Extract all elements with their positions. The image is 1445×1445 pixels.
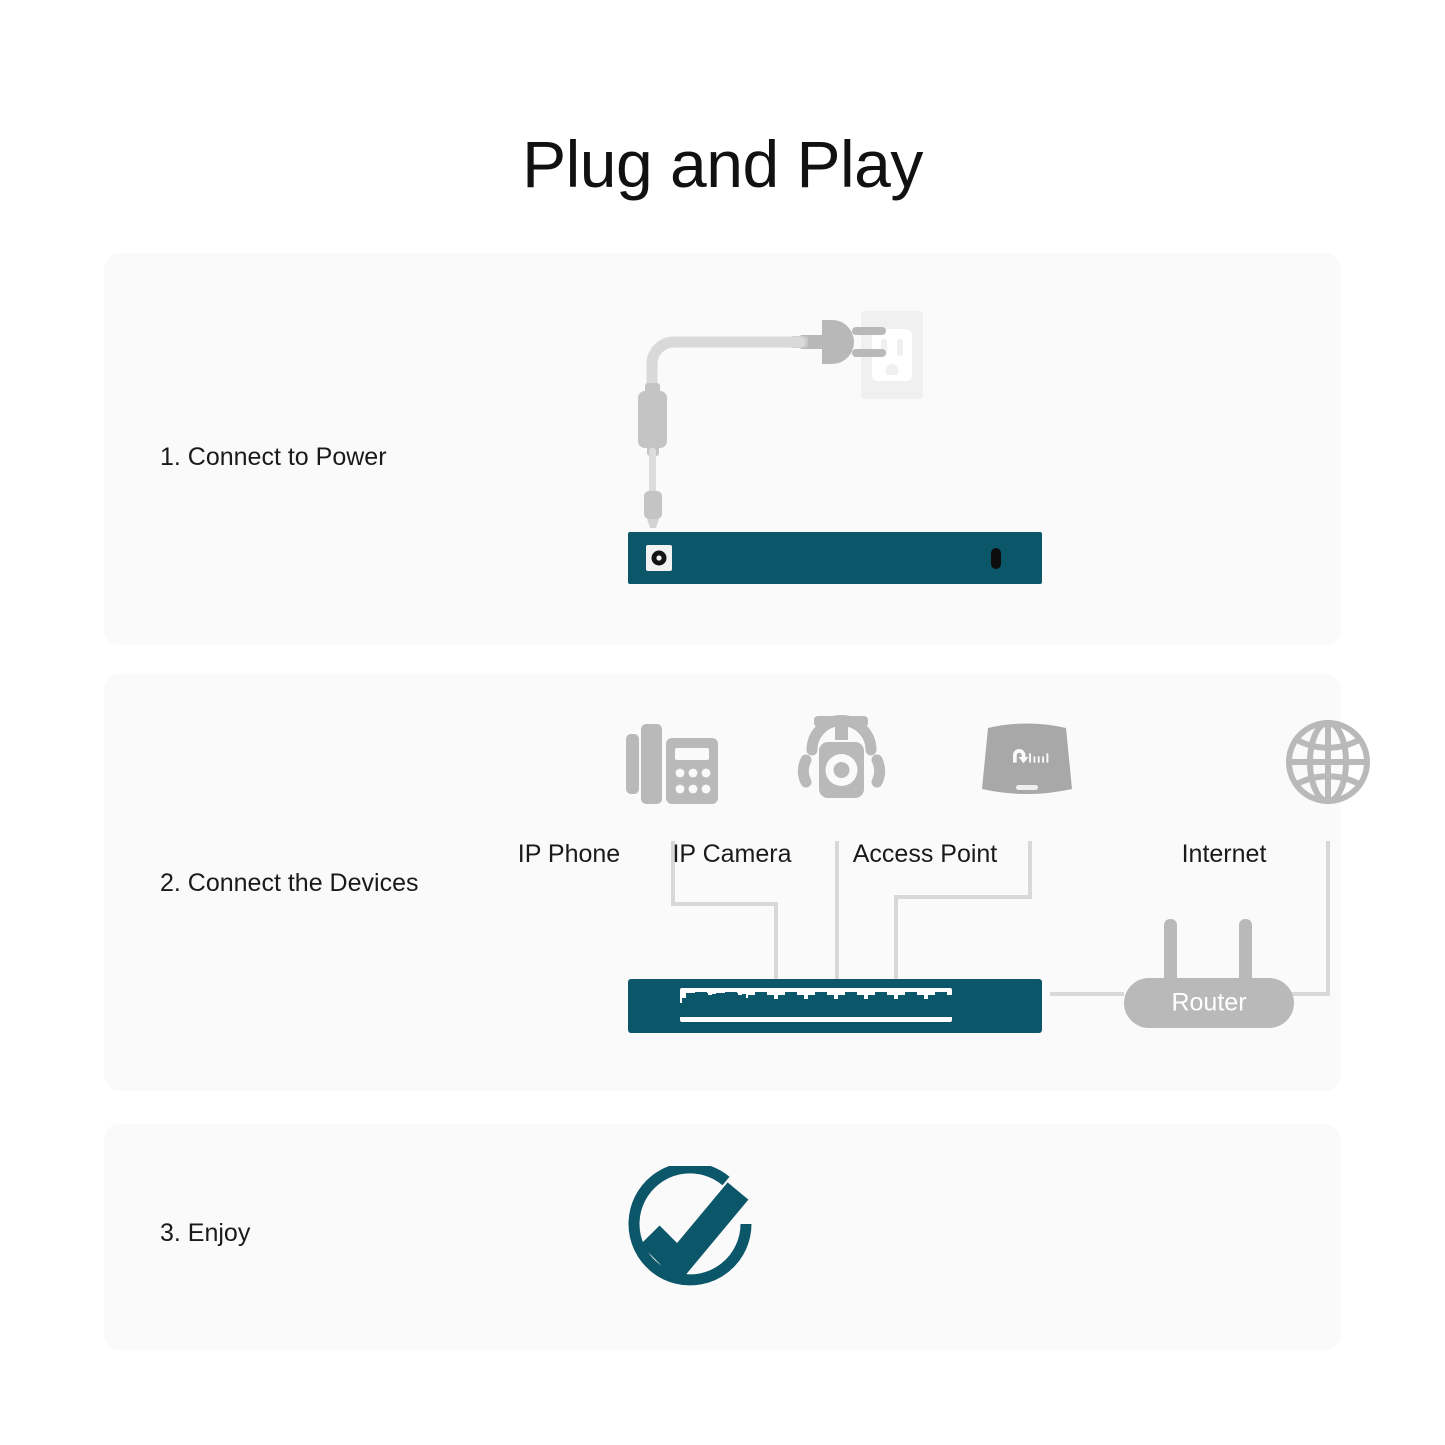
step-panel-connect-the-devices: 2. Connect the Devices xyxy=(104,674,1341,1091)
access-point-icon xyxy=(982,724,1072,795)
device-label-access-point: Access Point xyxy=(853,840,998,869)
device-label-internet: Internet xyxy=(1182,840,1267,869)
plug-and-play-infographic: Plug and Play 1. Connect to Power xyxy=(0,0,1445,1445)
router-label: Router xyxy=(1171,989,1246,1018)
step-1-label: 1. Connect to Power xyxy=(160,443,387,472)
step-panel-connect-to-power: 1. Connect to Power xyxy=(104,253,1341,645)
rj45-ports xyxy=(686,992,956,1017)
globe-icon xyxy=(1289,723,1367,801)
power-cable-upper xyxy=(652,342,800,385)
network-switch-front-icon xyxy=(628,979,1042,1033)
step-2-illustration xyxy=(504,694,1404,1084)
ip-phone-icon xyxy=(626,724,718,804)
device-label-ip-camera: IP Camera xyxy=(672,840,791,869)
device-label-ip-phone: IP Phone xyxy=(518,840,620,869)
step-3-label: 3. Enjoy xyxy=(160,1219,250,1248)
check-circle-icon xyxy=(618,1166,778,1311)
ip-camera-icon xyxy=(803,716,879,798)
dc-connector-icon xyxy=(644,491,662,528)
step-2-label: 2. Connect the Devices xyxy=(160,869,418,898)
line-internet xyxy=(1274,841,1328,994)
step-panel-enjoy: 3. Enjoy xyxy=(104,1124,1341,1350)
network-switch-rear-icon xyxy=(628,532,1042,584)
power-adapter-brick-icon xyxy=(638,383,667,456)
step-1-illustration xyxy=(504,273,1304,633)
page-title: Plug and Play xyxy=(0,128,1445,201)
